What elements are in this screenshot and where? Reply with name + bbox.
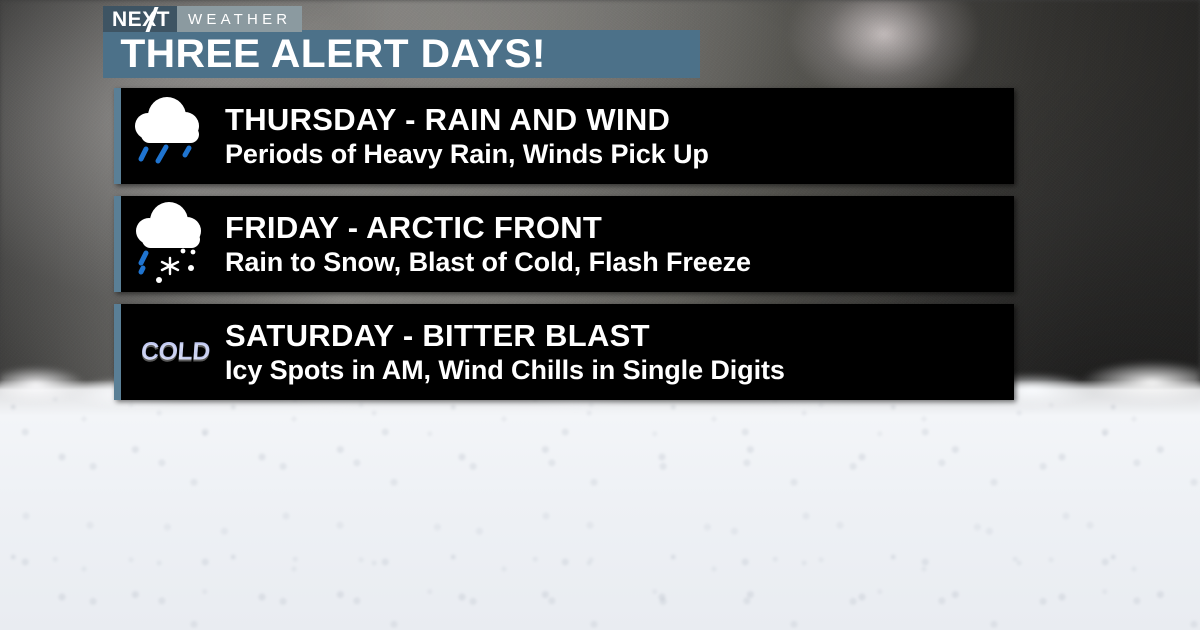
alert-text-block: FRIDAY - ARCTIC FRONT Rain to Snow, Blas…	[225, 211, 1014, 277]
snow-field	[0, 380, 1200, 630]
alert-title: THURSDAY - RAIN AND WIND	[225, 103, 1002, 136]
alert-row[interactable]: FRIDAY - ARCTIC FRONT Rain to Snow, Blas…	[114, 196, 1014, 292]
rain-snow-mix-cloud-icon	[121, 196, 225, 292]
logo-weather-text: WEATHER	[188, 12, 291, 27]
cold-text-icon: COLD	[121, 304, 225, 400]
alert-title: SATURDAY - BITTER BLAST	[225, 319, 1002, 352]
logo-next-badge: NEXT	[103, 6, 177, 32]
snow-grain-texture	[0, 380, 1200, 630]
cold-label: COLD	[140, 340, 211, 365]
alert-subtitle: Rain to Snow, Blast of Cold, Flash Freez…	[225, 247, 1002, 277]
next-weather-logo: NEXT WEATHER	[103, 6, 302, 32]
logo-weather-badge: WEATHER	[177, 6, 302, 32]
alert-subtitle: Icy Spots in AM, Wind Chills in Single D…	[225, 355, 1002, 385]
alert-list: THURSDAY - RAIN AND WIND Periods of Heav…	[114, 88, 1014, 412]
alert-subtitle: Periods of Heavy Rain, Winds Pick Up	[225, 139, 1002, 169]
headline-band: THREE ALERT DAYS!	[103, 30, 700, 78]
page-title: THREE ALERT DAYS!	[103, 34, 546, 74]
alert-title: FRIDAY - ARCTIC FRONT	[225, 211, 1002, 244]
rain-cloud-icon	[121, 88, 225, 184]
logo-next-text: NEXT	[112, 9, 170, 30]
alert-row[interactable]: THURSDAY - RAIN AND WIND Periods of Heav…	[114, 88, 1014, 184]
alert-text-block: SATURDAY - BITTER BLAST Icy Spots in AM,…	[225, 319, 1014, 385]
alert-row[interactable]: COLD SATURDAY - BITTER BLAST Icy Spots i…	[114, 304, 1014, 400]
alert-text-block: THURSDAY - RAIN AND WIND Periods of Heav…	[225, 103, 1014, 169]
weather-graphic: NEXT WEATHER THREE ALERT DAYS!	[0, 0, 1200, 630]
